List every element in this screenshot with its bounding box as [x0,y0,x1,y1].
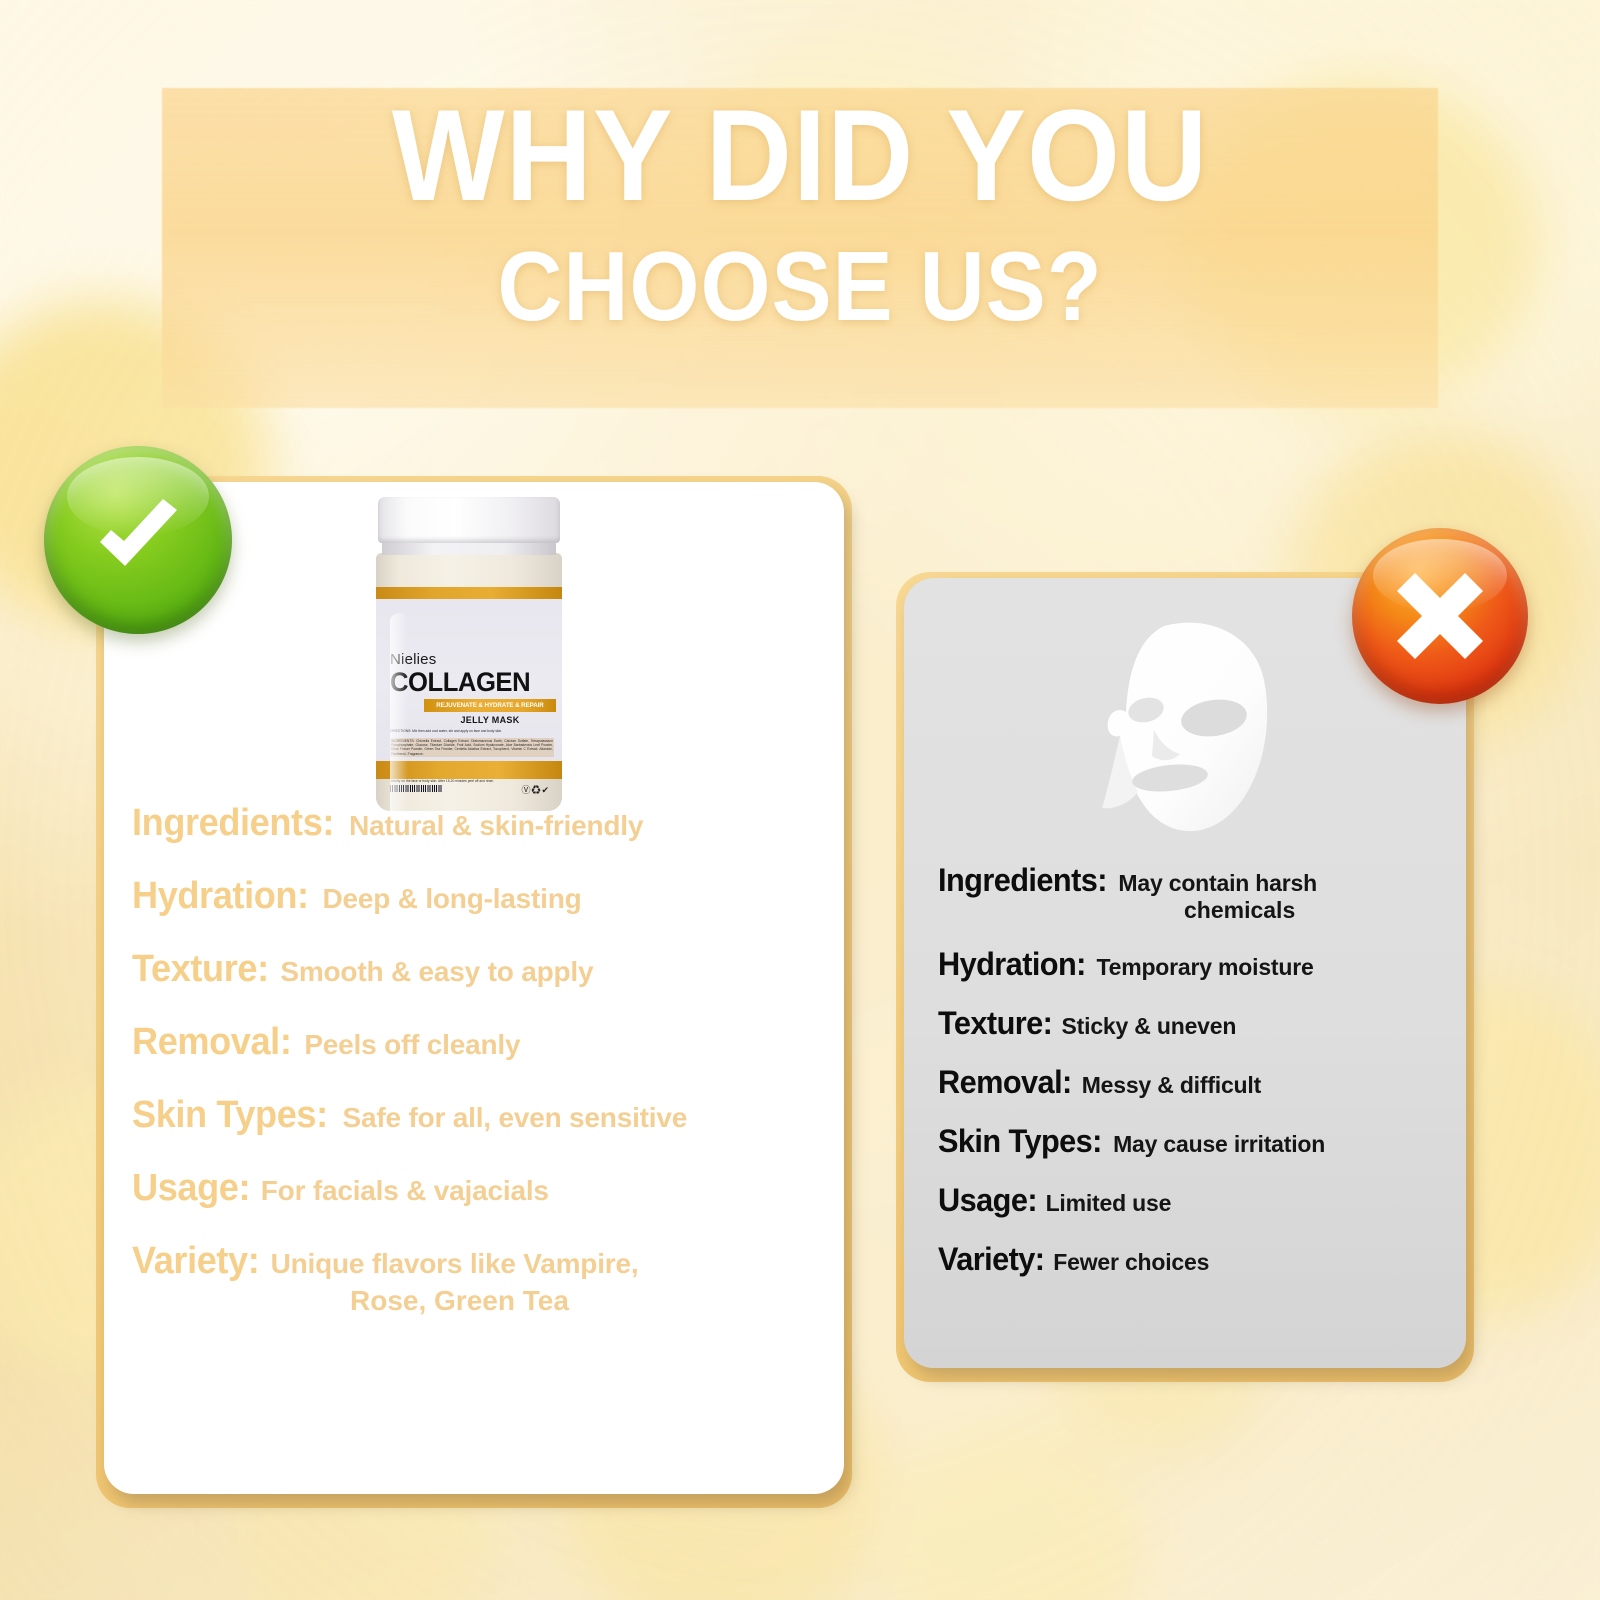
label-band-top [376,587,562,599]
title-line-2: CHOOSE US? [64,236,1536,336]
jar-neck [382,541,556,555]
pro-value: Deep & long-lasting [322,883,581,914]
sheet-mask-image [1068,612,1298,844]
con-label: Hydration: [938,946,1086,983]
title-line-1: WHY DID YOU [64,96,1536,214]
pro-label: Variety: [132,1240,259,1283]
pro-value: Peels off cleanly [304,1029,520,1060]
con-value: May cause irritation [1113,1131,1325,1157]
pro-value: Smooth & easy to apply [280,956,593,987]
list-item: Ingredients: Natural & skin-friendly [132,802,832,845]
con-label: Usage: [938,1182,1037,1219]
pro-feature-list: Ingredients: Natural & skin-friendly Hyd… [132,802,832,1347]
pro-value: For facials & vajacials [261,1175,549,1206]
pro-label: Usage: [132,1167,250,1210]
con-value: Limited use [1046,1190,1172,1216]
jar-ribbon: REJUVENATE & HYDRATE & REPAIR [424,699,556,712]
badge-gloss [1373,539,1507,613]
list-item: Skin Types: Safe for all, even sensitive [132,1094,832,1137]
page-title: WHY DID YOU CHOOSE US? [0,96,1600,336]
con-label: Ingredients: [938,862,1107,899]
jar-ribbon-text: REJUVENATE & HYDRATE & REPAIR [436,702,543,709]
infographic-canvas: WHY DID YOU CHOOSE US? Nielies COLLAGEN … [0,0,1600,1600]
con-label: Texture: [938,1005,1052,1042]
con-value: May contain harsh [1118,870,1317,896]
list-item: Texture: Smooth & easy to apply [132,948,832,991]
con-label: Removal: [938,1064,1072,1101]
con-value: Fewer choices [1053,1249,1209,1275]
jar-highlight [390,613,408,811]
pro-label: Texture: [132,948,269,991]
jar-subtitle: JELLY MASK [424,715,556,725]
jar-fine-print-2: INGREDIENTS: Chlorella Extract, Collagen… [390,738,554,757]
list-item: Skin Types: May cause irritation [938,1123,1458,1160]
jar-product-name: COLLAGEN [390,667,530,698]
list-item: Usage: Limited use [938,1182,1458,1219]
con-value-line2: chemicals [1184,897,1458,924]
list-item: Removal: Peels off cleanly [132,1021,832,1064]
list-item: Removal: Messy & difficult [938,1064,1458,1101]
jar-cap [378,497,560,543]
pro-label: Skin Types: [132,1094,328,1137]
con-value: Messy & difficult [1082,1072,1261,1098]
list-item: Hydration: Temporary moisture [938,946,1458,983]
pro-value-line2: Rose, Green Tea [350,1285,832,1317]
list-item: Variety: Fewer choices [938,1241,1458,1278]
list-item: Texture: Sticky & uneven [938,1005,1458,1042]
product-jar-image: Nielies COLLAGEN REJUVENATE & HYDRATE & … [372,497,566,815]
list-item: Hydration: Deep & long-lasting [132,875,832,918]
x-badge-icon [1352,528,1528,704]
jar-body: Nielies COLLAGEN REJUVENATE & HYDRATE & … [376,553,562,811]
con-label: Variety: [938,1241,1044,1278]
con-value: Sticky & uneven [1062,1013,1237,1039]
check-badge-icon [44,446,232,634]
list-item: Ingredients: May contain harsh chemicals [938,862,1458,924]
pro-label: Ingredients: [132,802,334,845]
con-label: Skin Types: [938,1123,1102,1160]
list-item: Usage: For facials & vajacials [132,1167,832,1210]
pro-label: Removal: [132,1021,291,1064]
badge-gloss [67,457,210,536]
list-item: Variety: Unique flavors like Vampire, Ro… [132,1240,832,1317]
pro-value: Unique flavors like Vampire, [271,1248,639,1279]
pro-value: Natural & skin-friendly [349,810,643,841]
recycle-icons: Ⓥ♻✔ [521,783,550,796]
con-feature-list: Ingredients: May contain harsh chemicals… [938,862,1458,1300]
sheet-mask-icon [1068,612,1298,844]
pro-value: Safe for all, even sensitive [343,1102,688,1133]
con-value: Temporary moisture [1096,954,1313,980]
pro-label: Hydration: [132,875,309,918]
jar-fine-print-1: DIRECTIONS: Mix then add cool water, sti… [390,729,552,733]
